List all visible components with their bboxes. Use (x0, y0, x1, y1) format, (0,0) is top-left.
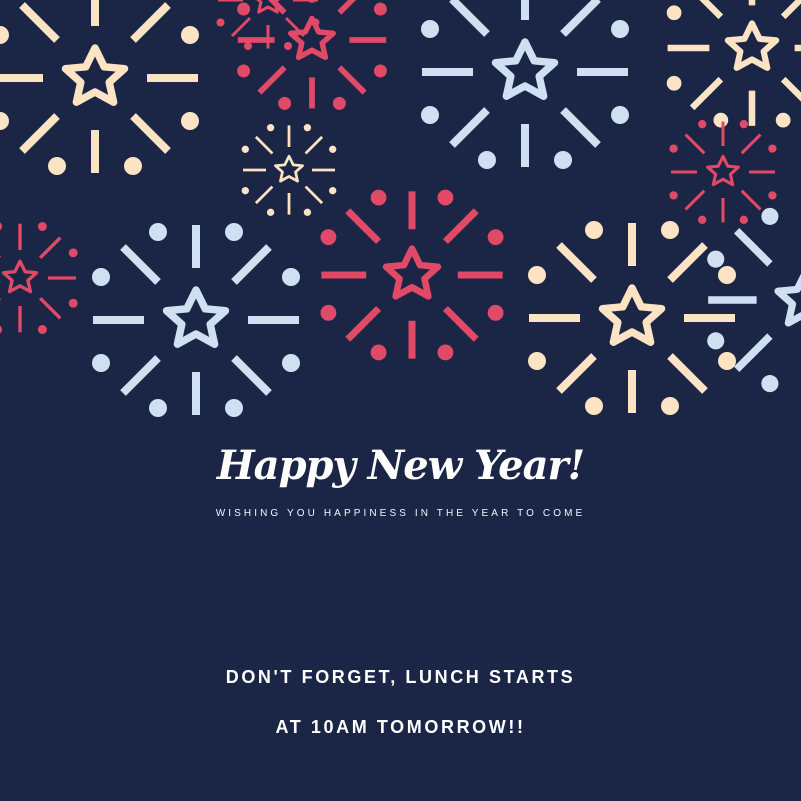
new-year-greeting-card: Happy New Year! WISHING YOU HAPPINESS IN… (0, 0, 801, 801)
announcement-block: DON'T FORGET, LUNCH STARTS AT 10AM TOMOR… (0, 652, 801, 752)
greeting-text-block: Happy New Year! WISHING YOU HAPPINESS IN… (0, 446, 801, 519)
firework-blue-right-edge (707, 208, 801, 392)
firework-large-cream-lower-right (528, 221, 736, 415)
firework-small-pink-left-edge (0, 222, 78, 334)
firework-medium-cream-top-right (667, 0, 801, 128)
firework-large-blue-lower-left (92, 223, 300, 417)
firework-large-pink-lower-center (320, 190, 503, 361)
greeting-subtitle: WISHING YOU HAPPINESS IN THE YEAR TO COM… (0, 508, 801, 519)
page-title: Happy New Year! (0, 446, 801, 486)
firework-large-blue-top (421, 0, 629, 169)
firework-small-pink-mid-right (669, 120, 776, 224)
announcement-line-1: DON'T FORGET, LUNCH STARTS (0, 652, 801, 702)
firework-medium-pink-top (237, 0, 387, 110)
firework-pink-top-left-edge (217, 0, 320, 50)
firework-large-cream-top-left (0, 0, 199, 175)
firework-small-cream-mid-left (242, 124, 337, 216)
announcement-line-2: AT 10AM TOMORROW!! (0, 702, 801, 752)
